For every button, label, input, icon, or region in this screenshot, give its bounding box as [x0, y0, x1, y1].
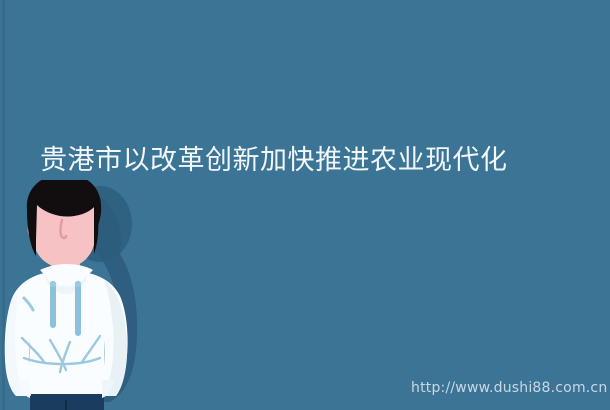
- watermark-url: http://www.dushi88.com.cn: [411, 379, 607, 397]
- illustration-young-man: [0, 180, 160, 410]
- pants: [30, 394, 104, 410]
- promo-banner: 贵港市以改革创新加快推进农业现代化 http://www.dushi88.com…: [0, 0, 610, 410]
- page-title: 贵港市以改革创新加快推进农业现代化: [40, 144, 585, 180]
